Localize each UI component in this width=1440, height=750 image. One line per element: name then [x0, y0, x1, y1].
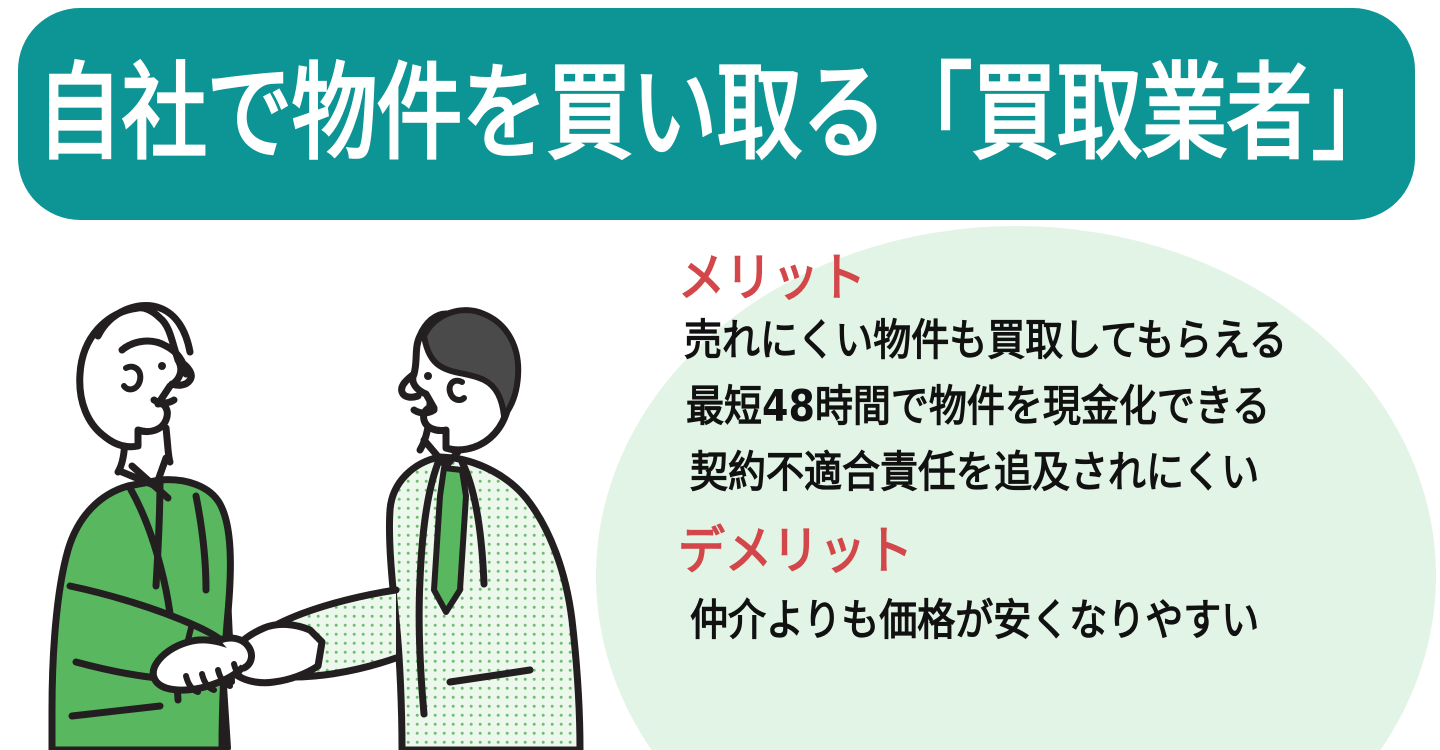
- merit-item-2: 最短48時間で物件を現金化できる: [686, 369, 1360, 444]
- infographic-canvas: 自社で物件を買い取る「買取業者」: [0, 0, 1440, 750]
- merit-item-3: 契約不適合責任を追及されにくい: [690, 435, 1360, 510]
- demerit-item-1: 仲介よりも価格が安くなりやすい: [690, 576, 1360, 658]
- page-title: 自社で物件を買い取る「買取業者」: [37, 62, 1397, 167]
- merit-heading: メリット: [678, 252, 1360, 306]
- benefits-panel: メリット 売れにくい物件も買取してもらえる 最短48時間で物件を現金化できる 契…: [660, 246, 1360, 653]
- demerit-heading: デメリット: [678, 525, 1360, 579]
- header-banner: 自社で物件を買い取る「買取業者」: [18, 8, 1415, 220]
- handshake-illustration: [10, 290, 650, 750]
- merit-item-1: 売れにくい物件も買取してもらえる: [684, 303, 1360, 378]
- right-person: [250, 310, 580, 750]
